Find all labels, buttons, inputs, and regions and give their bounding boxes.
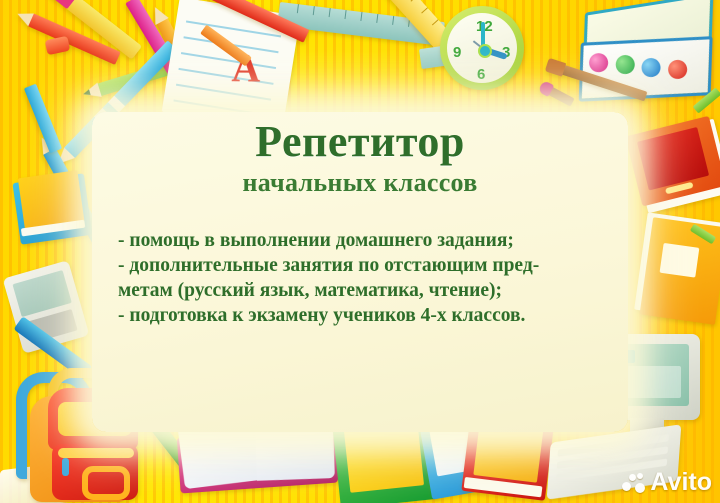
clock-hour-9: 9 [453, 44, 461, 61]
service-item: - помощь в выполнении домашнего задания; [118, 228, 618, 253]
service-item: - подготовка к экзамену учеников 4-х кла… [118, 303, 618, 328]
book-blue-yellow-left [12, 167, 93, 244]
avito-logo-icon [622, 472, 646, 494]
page-title: Репетитор [92, 116, 628, 167]
backpack-zipper-pull [62, 458, 69, 476]
content-panel-inner: Репетитор начальных классов - помощь в в… [92, 112, 628, 432]
clock-hour-6: 6 [477, 66, 485, 83]
watermark-text: Avito [650, 468, 712, 497]
backpack-pocket-emblem [82, 466, 130, 500]
poster: A 12 3 6 9 [0, 0, 720, 503]
clock-center-pin [478, 44, 492, 58]
service-list: - помощь в выполнении домашнего задания;… [118, 228, 618, 328]
watermark: Avito [622, 468, 712, 497]
service-item: метам (русский язык, математика, чтение)… [118, 278, 618, 303]
page-subtitle: начальных классов [92, 168, 628, 198]
alarm-clock: 12 3 6 9 [440, 6, 524, 90]
backpack-pocket-zip [58, 448, 134, 458]
calculator-screen [12, 270, 71, 317]
service-item: - дополнительные занятия по отстающим пр… [118, 253, 618, 278]
